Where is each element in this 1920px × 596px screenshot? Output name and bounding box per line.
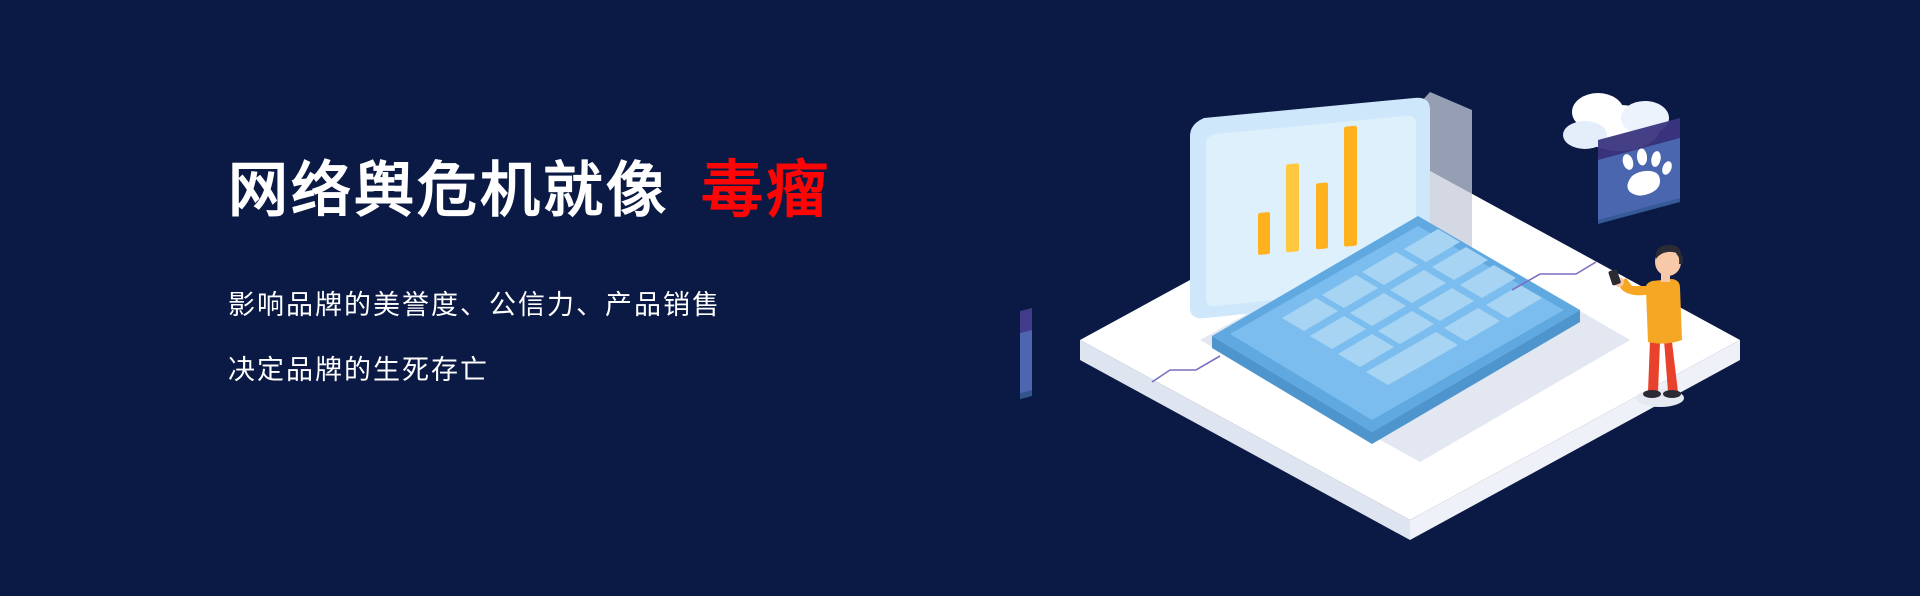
headline-red-text: 毒瘤 (701, 156, 831, 225)
hero-banner: 网络舆危机就像毒瘤 影响品牌的美誉度、公信力、产品销售 决定品牌的生死存亡 (0, 0, 1920, 596)
headline-white-text: 网络舆危机就像 (228, 157, 669, 224)
illustration (1020, 40, 1800, 560)
subtitle-line-2: 决定品牌的生死存亡 (228, 357, 988, 384)
banner-headline: 网络舆危机就像毒瘤 (228, 160, 988, 222)
card-alert (1020, 308, 1032, 418)
subtitle-line-1: 影响品牌的美誉度、公信力、产品销售 (228, 292, 988, 319)
banner-text-block: 网络舆危机就像毒瘤 影响品牌的美誉度、公信力、产品销售 决定品牌的生死存亡 (228, 160, 988, 422)
